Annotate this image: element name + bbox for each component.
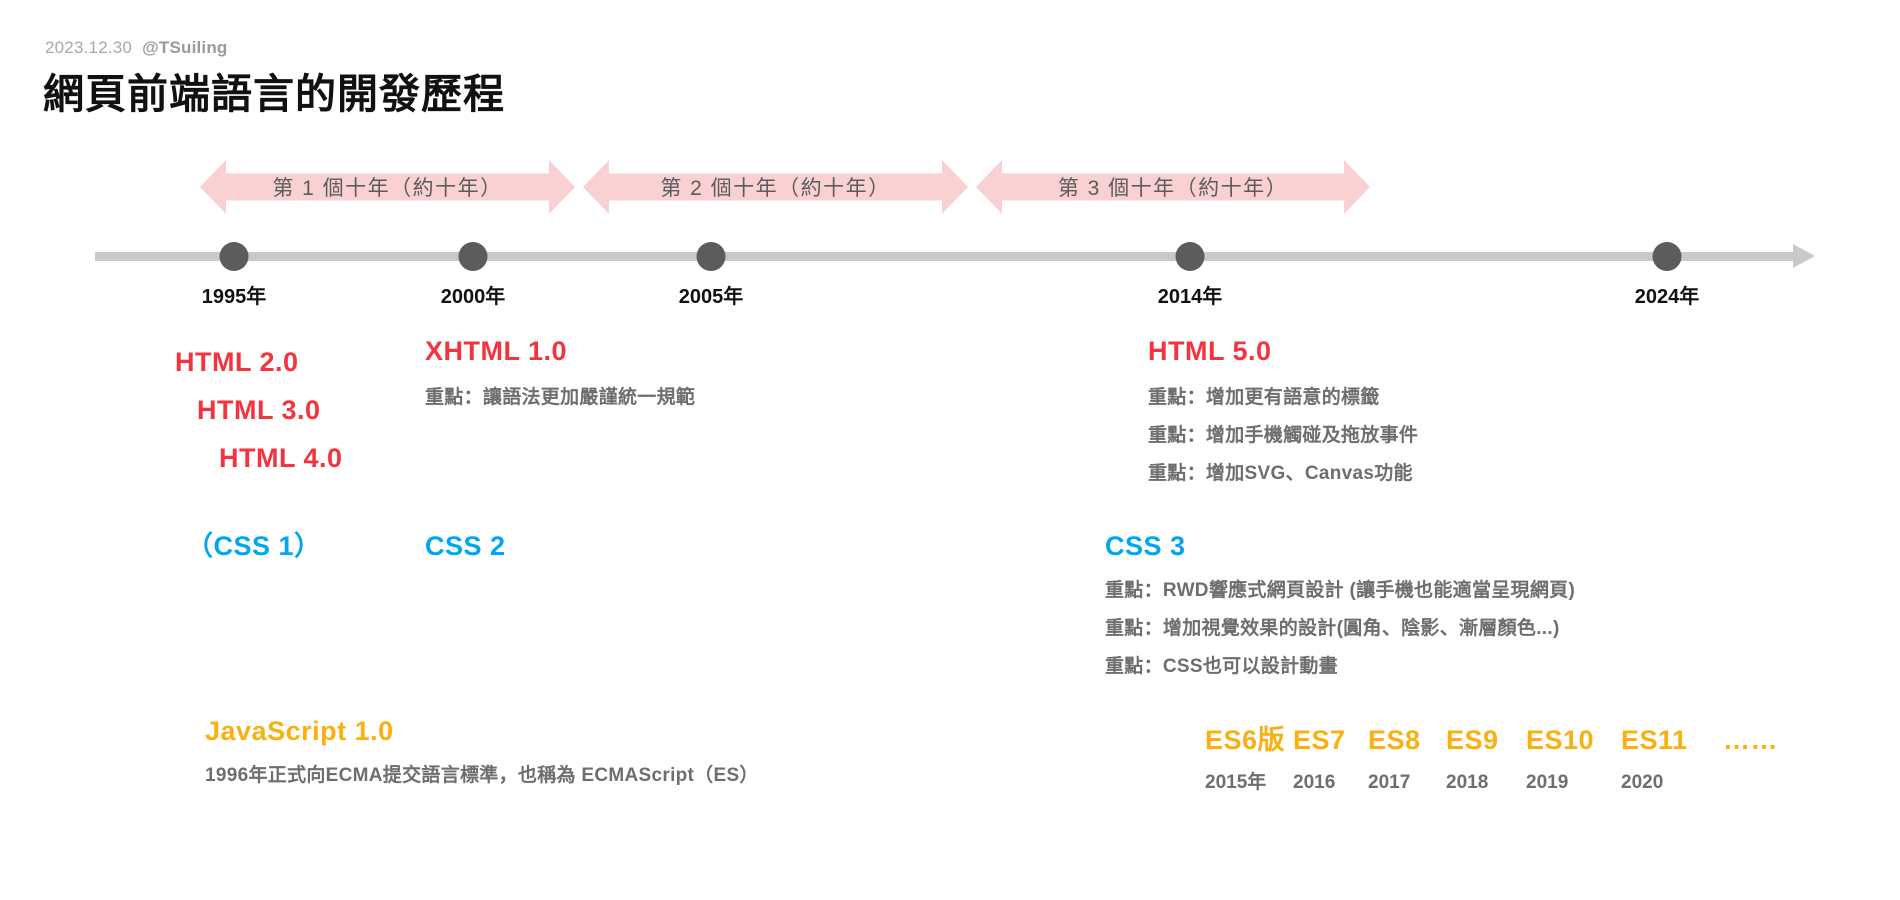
decade-band-2: 第 2 個十年（約十年） xyxy=(583,160,968,214)
publish-date: 2023.12.30 xyxy=(45,38,132,57)
es-version-es10: ES10 xyxy=(1526,725,1621,756)
year-label-2000: 2000年 xyxy=(441,280,506,309)
html5-heading: HTML 5.0 xyxy=(1148,338,1418,365)
es-year-2016: 2016 xyxy=(1293,772,1368,794)
year-label-1995: 1995年 xyxy=(202,280,267,309)
es-year-2017: 2017 xyxy=(1368,772,1446,794)
timeline-dot-2000 xyxy=(459,242,488,271)
decade-band-3: 第 3 個十年（約十年） xyxy=(976,160,1370,214)
xhtml-note-1: 重點：讓語法更加嚴謹統一規範 xyxy=(425,379,695,417)
timeline-dot-2005 xyxy=(697,242,726,271)
es-year-2020: 2020 xyxy=(1621,772,1723,794)
page-title: 網頁前端語言的開發歷程 xyxy=(43,60,505,120)
es-year-2015: 2015年 xyxy=(1205,767,1293,794)
xhtml-heading: XHTML 1.0 xyxy=(425,338,695,365)
timeline-dot-2014 xyxy=(1176,242,1205,271)
es-year-2019: 2019 xyxy=(1526,772,1621,794)
html-early-versions: HTML 2.0 HTML 3.0 HTML 4.0 xyxy=(175,338,343,482)
javascript-block: JavaScript 1.0 1996年正式向ECMA提交語言標準，也稱為 EC… xyxy=(205,718,759,795)
html5-note-2: 重點：增加手機觸碰及拖放事件 xyxy=(1148,417,1418,455)
css1-heading: （CSS 1） xyxy=(186,533,322,560)
year-label-2024: 2024年 xyxy=(1635,280,1700,309)
meta-line: 2023.12.30@TSuiling xyxy=(45,38,228,58)
css3-note-1: 重點：RWD響應式網頁設計 (讓手機也能適當呈現網頁) xyxy=(1105,572,1575,610)
timeline-arrow-icon xyxy=(1793,244,1815,268)
html5-note-1: 重點：增加更有語意的標籤 xyxy=(1148,379,1418,417)
xhtml-block: XHTML 1.0 重點：讓語法更加嚴謹統一規範 xyxy=(425,338,695,417)
timeline-axis xyxy=(95,252,1795,261)
javascript-note: 1996年正式向ECMA提交語言標準，也稱為 ECMAScript（ES） xyxy=(205,757,759,795)
html-version-2: HTML 2.0 xyxy=(175,338,343,386)
timeline-dot-1995 xyxy=(220,242,249,271)
css2-heading: CSS 2 xyxy=(425,533,506,560)
es-version-es6: ES6版 xyxy=(1205,718,1293,757)
es-version-es8: ES8 xyxy=(1368,725,1446,756)
es-version-es7: ES7 xyxy=(1293,725,1368,756)
javascript-heading: JavaScript 1.0 xyxy=(205,718,759,745)
year-label-2005: 2005年 xyxy=(679,280,744,309)
es-years-row: 2015年 2016 2017 2018 2019 2020 xyxy=(1205,767,1778,794)
css3-note-3: 重點：CSS也可以設計動畫 xyxy=(1105,648,1575,686)
html5-block: HTML 5.0 重點：增加更有語意的標籤 重點：增加手機觸碰及拖放事件 重點：… xyxy=(1148,338,1418,493)
es-version-ellipsis: …… xyxy=(1723,725,1778,756)
css3-heading: CSS 3 xyxy=(1105,533,1575,560)
html-version-3: HTML 3.0 xyxy=(175,386,343,434)
css3-block: CSS 3 重點：RWD響應式網頁設計 (讓手機也能適當呈現網頁) 重點：增加視… xyxy=(1105,533,1575,686)
author-handle: @TSuiling xyxy=(142,38,227,57)
es-versions-block: ES6版 ES7 ES8 ES9 ES10 ES11 …… 2015年 2016… xyxy=(1205,718,1778,794)
es-year-2018: 2018 xyxy=(1446,772,1526,794)
decade-band-1-label: 第 1 個十年（約十年） xyxy=(272,172,502,202)
css3-note-2: 重點：增加視覺效果的設計(圓角、陰影、漸層顏色...) xyxy=(1105,610,1575,648)
html5-note-3: 重點：增加SVG、Canvas功能 xyxy=(1148,455,1418,493)
html-version-4: HTML 4.0 xyxy=(175,434,343,482)
es-version-es9: ES9 xyxy=(1446,725,1526,756)
decade-band-2-label: 第 2 個十年（約十年） xyxy=(660,172,890,202)
decade-band-3-label: 第 3 個十年（約十年） xyxy=(1058,172,1288,202)
infographic-canvas: 2023.12.30@TSuiling 網頁前端語言的開發歷程 第 1 個十年（… xyxy=(0,0,1900,900)
timeline-dot-2024 xyxy=(1653,242,1682,271)
year-label-2014: 2014年 xyxy=(1158,280,1223,309)
es-versions-row: ES6版 ES7 ES8 ES9 ES10 ES11 …… xyxy=(1205,718,1778,757)
es-version-es11: ES11 xyxy=(1621,725,1723,756)
decade-band-1: 第 1 個十年（約十年） xyxy=(200,160,575,214)
